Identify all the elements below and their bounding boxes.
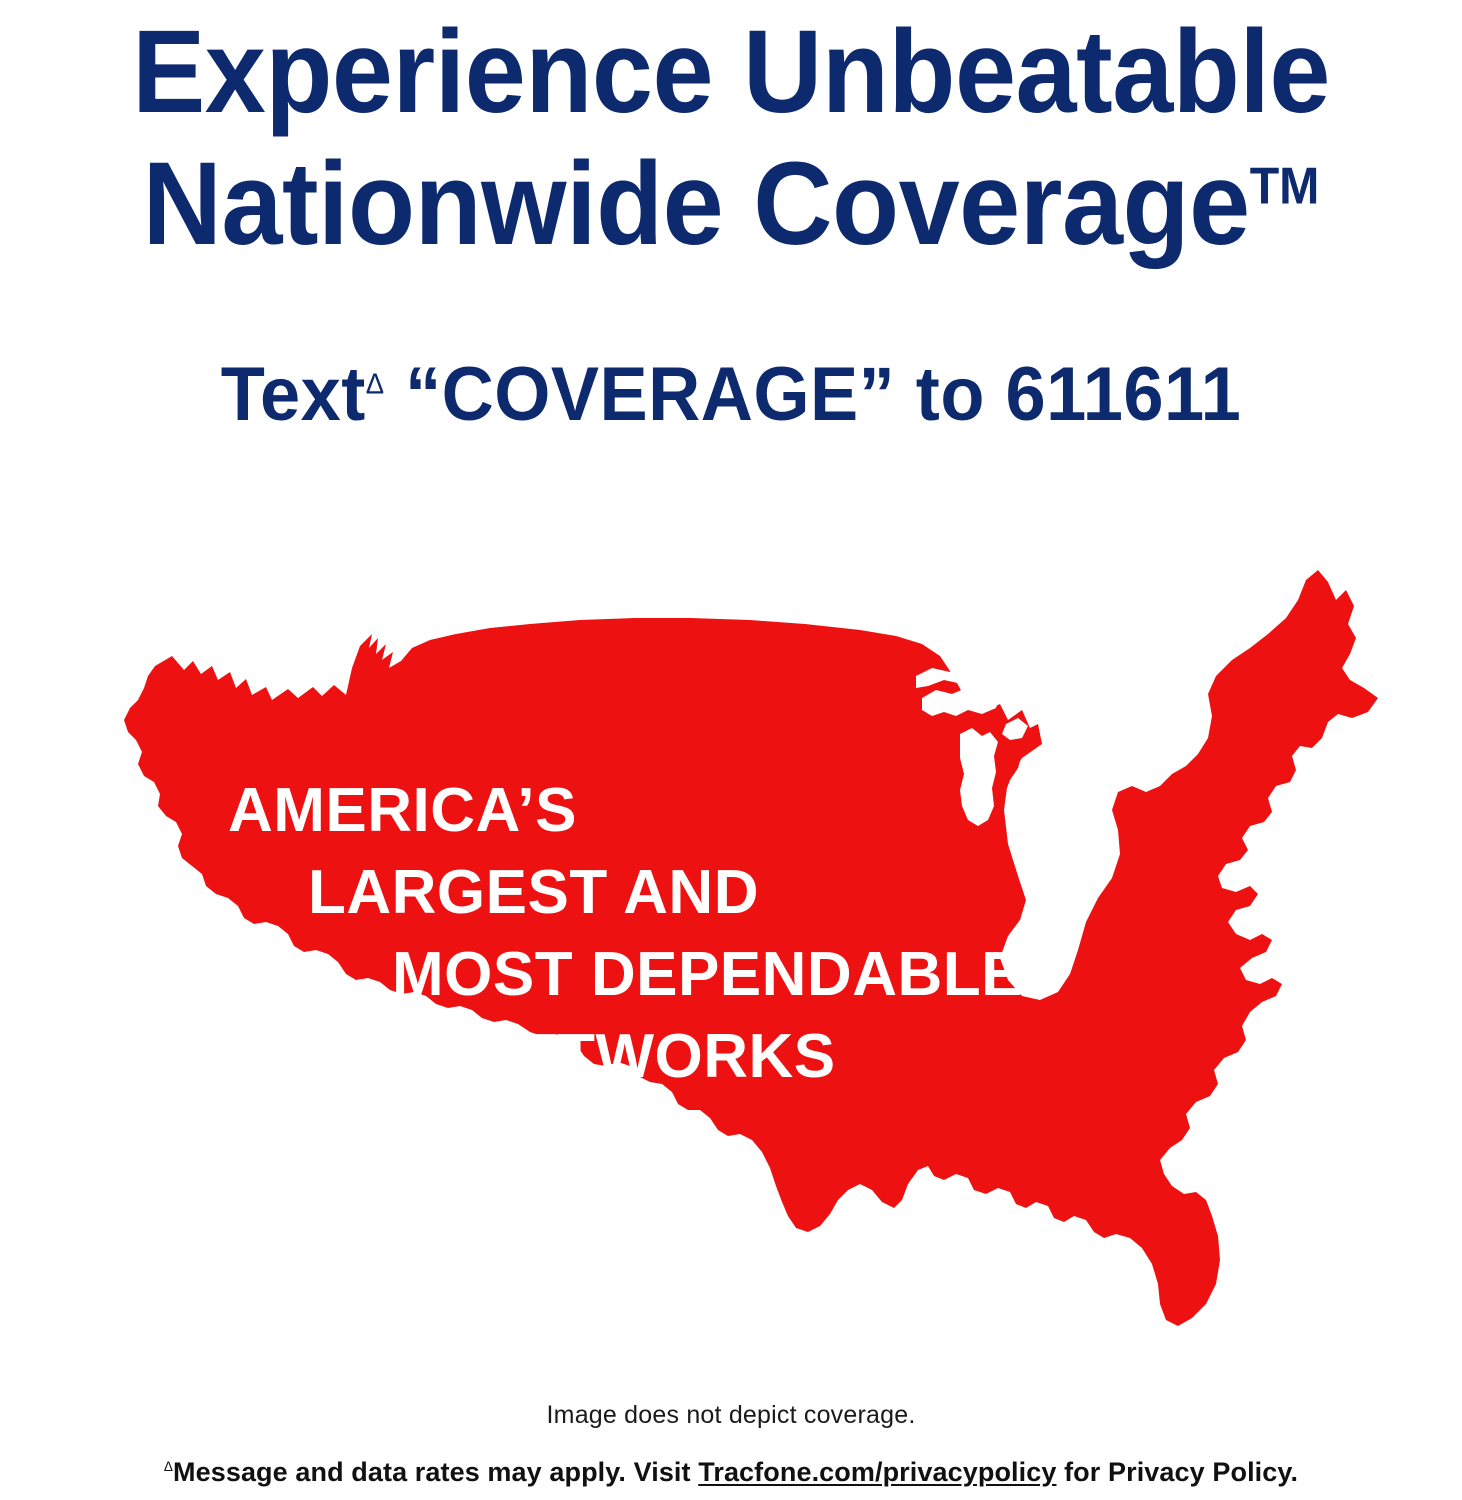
headline-block: Experience Unbeatable Nationwide Coverag… (0, 0, 1462, 270)
lake-superior-cutout (916, 666, 1010, 688)
us-coverage-map (60, 548, 1400, 1348)
footer-block: Image does not depict coverage. ΔMessage… (0, 1398, 1462, 1490)
advertisement-root: Experience Unbeatable Nationwide Coverag… (0, 0, 1462, 1500)
subheadline-keyword: “COVERAGE” (405, 352, 895, 437)
headline-line-2: Nationwide CoverageTM (51, 138, 1411, 270)
privacy-policy-link[interactable]: Tracfone.com/privacypolicy (698, 1457, 1056, 1487)
trademark-icon: TM (1250, 158, 1320, 216)
headline-line-2-text: Nationwide Coverage (143, 138, 1250, 270)
subheadline-prefix: Text (221, 352, 366, 437)
legal-delta-icon: Δ (164, 1459, 173, 1474)
subheadline-connector: to (916, 352, 985, 437)
legal-text-before-link: Message and data rates may apply. Visit (173, 1457, 698, 1487)
subheadline-shortcode: 611611 (1005, 352, 1241, 437)
footnote-delta-icon: Δ (366, 369, 385, 401)
subheadline-cta: TextΔ “COVERAGE” to 611611 (37, 352, 1426, 438)
us-map-silhouette-path (124, 570, 1378, 1326)
us-map-icon (60, 548, 1400, 1348)
headline-line-1: Experience Unbeatable (51, 0, 1411, 138)
image-disclaimer: Image does not depict coverage. (0, 1398, 1462, 1432)
legal-text-after-link: for Privacy Policy. (1056, 1457, 1298, 1487)
legal-disclosure: ΔMessage and data rates may apply. Visit… (0, 1454, 1462, 1490)
